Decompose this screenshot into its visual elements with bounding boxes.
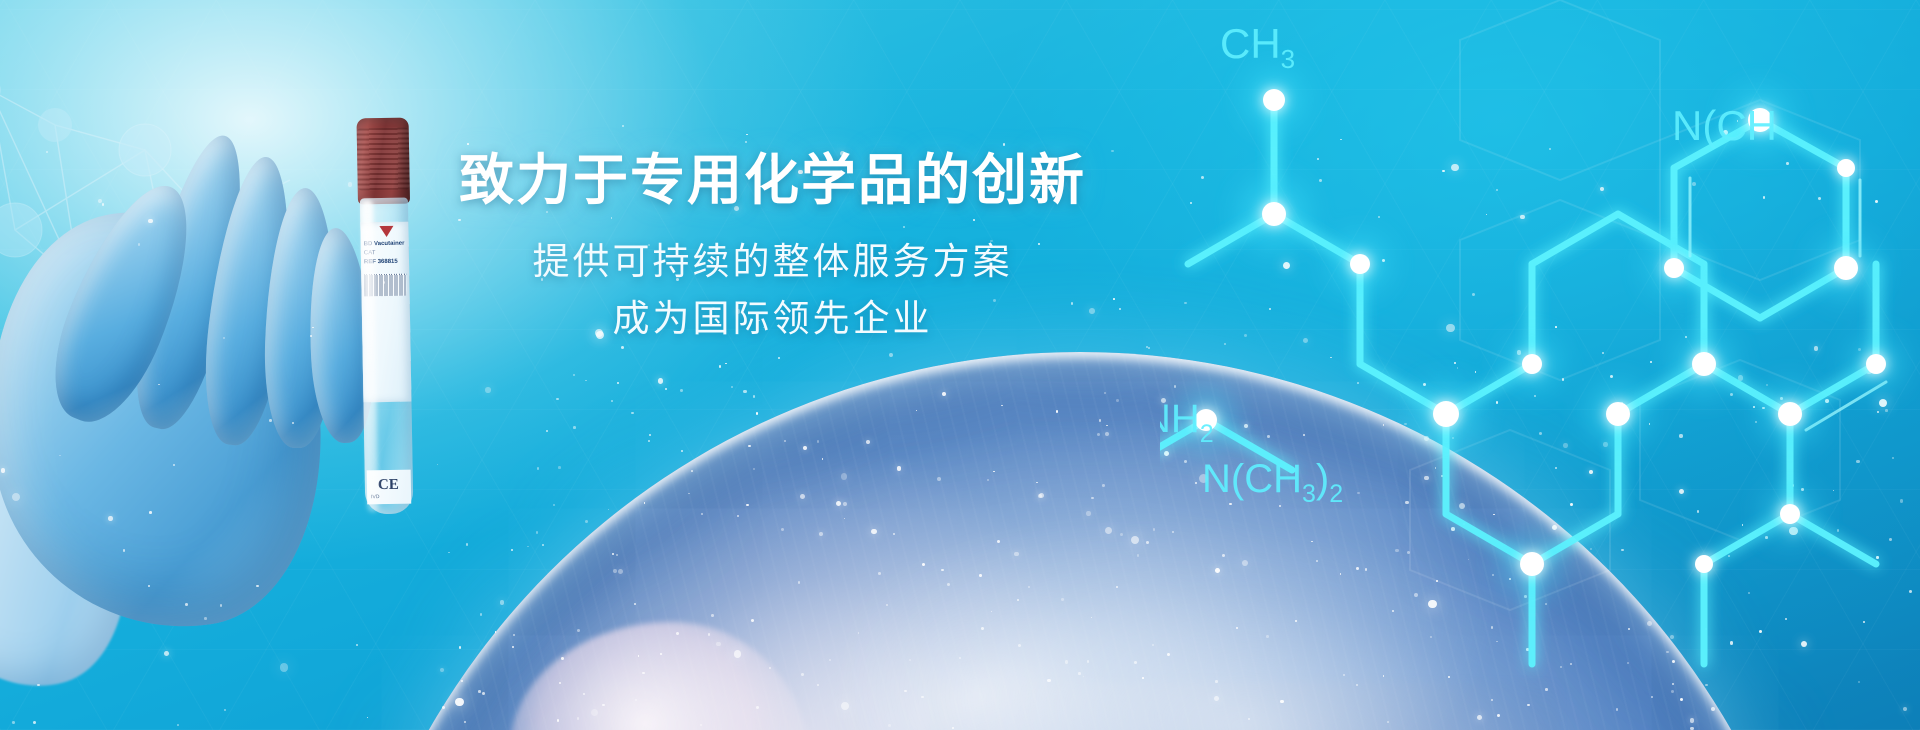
page-title: 致力于专用化学品的创新 [0, 150, 1545, 212]
chem-label-ch3: CH3 [1220, 20, 1295, 74]
hero-copy-block: 致力于专用化学品的创新 提供可持续的整体服务方案 成为国际领先企业 [0, 150, 1545, 347]
chem-label-n-ch-top: N(CH [1672, 102, 1777, 149]
subtitle-line-2: 成为国际领先企业 [0, 291, 1545, 347]
chemical-structure-diagram: CH3 OH N(CH NH2 N(CH3)2 [1160, 0, 1920, 730]
subtitle-line-1: 提供可持续的整体服务方案 [0, 234, 1545, 290]
chem-label-n-ch3-2: N(CH3)2 [1202, 457, 1343, 508]
hero-banner: BD Vacutainer CAT REF 368815 CE IVD [0, 0, 1920, 730]
